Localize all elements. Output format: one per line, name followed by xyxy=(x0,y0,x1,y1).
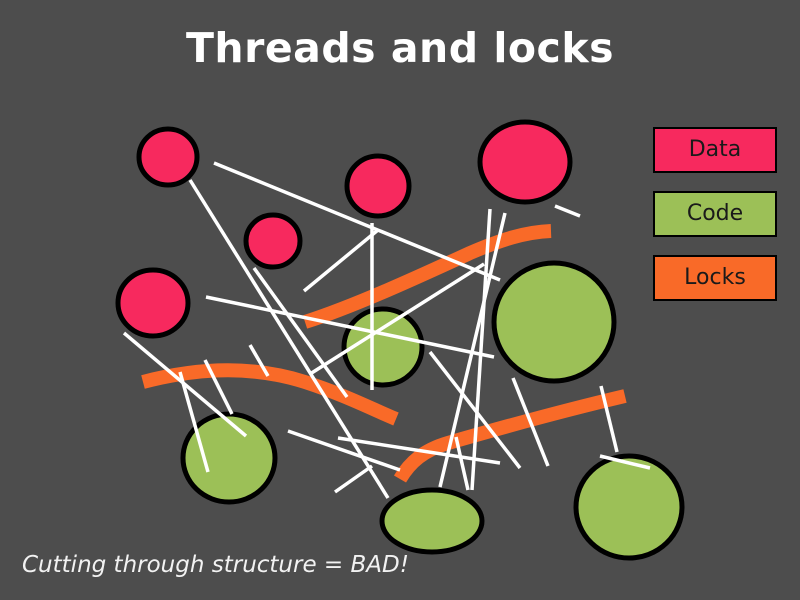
legend-item-data[interactable]: Data xyxy=(653,127,777,173)
code-circle-bottom-right xyxy=(576,456,682,558)
code-ellipse-bottom-mid xyxy=(382,490,482,552)
thread-line-13 xyxy=(555,206,580,216)
lock-stroke-lower xyxy=(400,396,625,479)
legend-item-code[interactable]: Code xyxy=(653,191,777,237)
thread-line-14 xyxy=(288,431,400,470)
data-circle-top-mid xyxy=(347,156,409,216)
legend-item-locks[interactable]: Locks xyxy=(653,255,777,301)
data-circle-small-left xyxy=(246,215,300,267)
legend-item-data-label: Data xyxy=(689,139,742,161)
thread-line-5 xyxy=(304,230,378,291)
data-circle-mid-left xyxy=(118,270,188,336)
thread-line-21 xyxy=(335,466,372,492)
slide-caption: Cutting through structure = BAD! xyxy=(22,552,409,578)
legend-item-code-label: Code xyxy=(687,203,743,225)
data-circle-top-left xyxy=(139,129,197,185)
slide-canvas: Threads and locks Data Code Locks Cuttin… xyxy=(0,0,800,600)
legend-item-locks-label: Locks xyxy=(684,267,746,289)
data-circle-top-right xyxy=(480,122,570,202)
legend: Data Code Locks xyxy=(653,127,777,319)
code-circle-large-right xyxy=(494,263,614,381)
